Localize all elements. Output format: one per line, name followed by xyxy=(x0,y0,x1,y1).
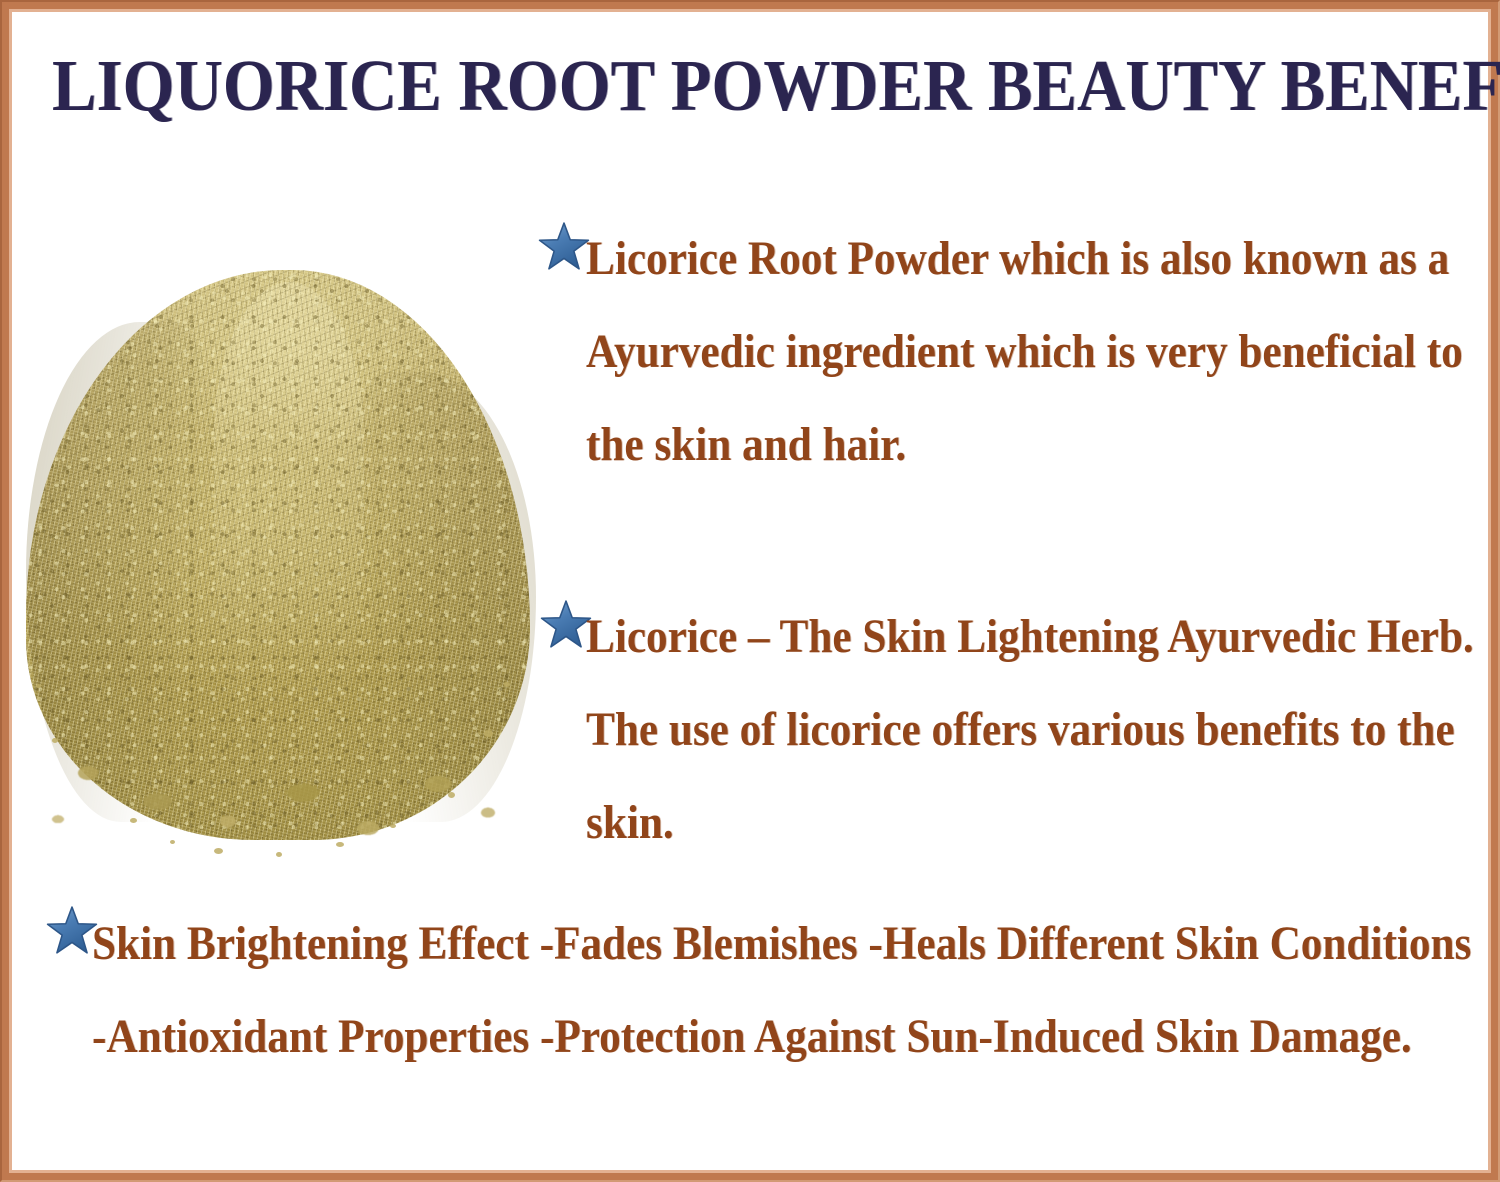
bullet-item-text: Licorice Root Powder which is also known… xyxy=(586,212,1500,491)
licorice-powder-image xyxy=(18,252,538,862)
powder-mound-crest xyxy=(214,282,364,802)
powder-mound xyxy=(18,252,538,862)
powder-speck xyxy=(448,792,455,798)
powder-speck xyxy=(36,684,41,688)
powder-speck xyxy=(276,852,282,857)
page-title: LIQUORICE ROOT POWDER BEAUTY BENEFITS xyxy=(52,47,1333,125)
bullet-item-text: Skin Brightening Effect -Fades Blemishes… xyxy=(92,897,1496,1083)
bullet-item-text: Licorice – The Skin Lightening Ayurvedic… xyxy=(586,590,1500,869)
infographic-canvas: LIQUORICE ROOT POWDER BEAUTY BENEFITS xyxy=(0,0,1500,1182)
powder-speck xyxy=(336,842,344,847)
powder-speck xyxy=(170,840,175,844)
star-bullet-icon xyxy=(46,905,98,957)
powder-speck xyxy=(504,682,510,687)
powder-speck xyxy=(390,824,396,828)
star-bullet-icon xyxy=(538,221,590,273)
powder-speck xyxy=(52,738,58,743)
powder-speck xyxy=(130,818,137,823)
star-bullet-icon xyxy=(540,599,592,651)
powder-speck xyxy=(484,730,493,737)
powder-speck xyxy=(214,848,223,854)
